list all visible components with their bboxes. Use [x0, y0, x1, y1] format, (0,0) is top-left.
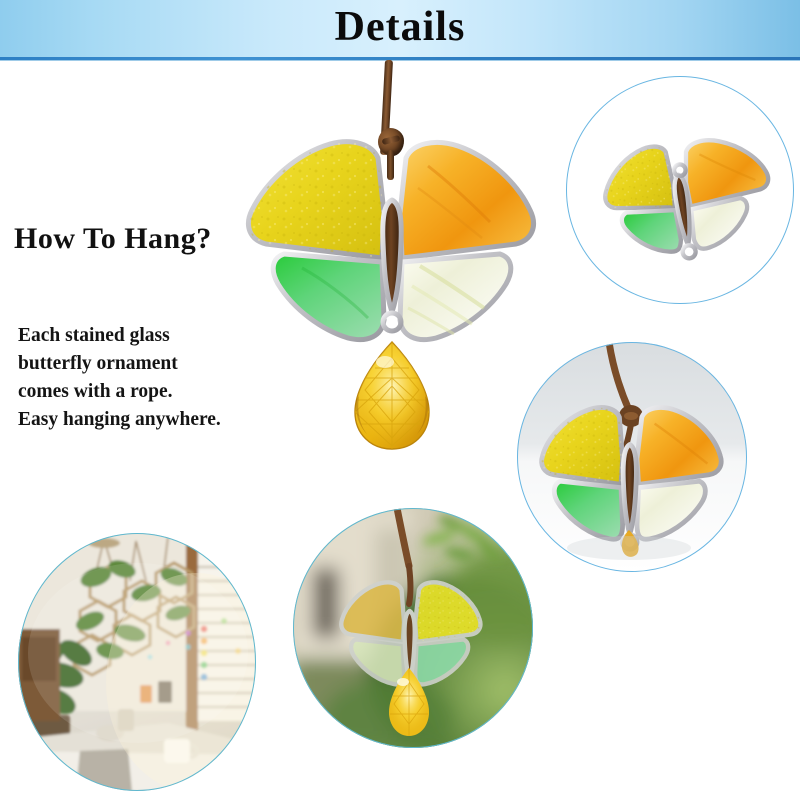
- product-photo-white-background[interactable]: [566, 76, 794, 304]
- photo-content-white-studio: [566, 76, 794, 304]
- howto-heading: How To Hang?: [14, 222, 212, 256]
- howto-line-4: Easy hanging anywhere.: [18, 406, 278, 434]
- wing-lower-left: [273, 254, 384, 340]
- product-photo-outdoor-garden[interactable]: [293, 508, 533, 748]
- butterfly-ornament-hero: [232, 118, 552, 348]
- header-divider-secondary: [0, 60, 800, 61]
- photo-content-grey-studio: [517, 342, 747, 572]
- product-photo-grey-studio[interactable]: [517, 342, 747, 572]
- butterfly-body: [383, 200, 401, 312]
- howto-line-3: comes with a rope.: [18, 378, 278, 406]
- lifestyle-photo-interior-room[interactable]: [18, 533, 256, 791]
- crystal-highlight: [376, 356, 394, 368]
- wing-upper-left: [248, 142, 384, 258]
- crystal-teardrop-pendant: [345, 338, 439, 453]
- photo-content-interior-room: [18, 533, 256, 791]
- page-title: Details: [0, 0, 800, 54]
- wing-upper-right: [400, 142, 534, 258]
- wing-lower-right: [400, 254, 511, 340]
- howto-line-2: butterfly ornament: [18, 350, 278, 378]
- photo-content-outdoor-garden: [293, 508, 533, 748]
